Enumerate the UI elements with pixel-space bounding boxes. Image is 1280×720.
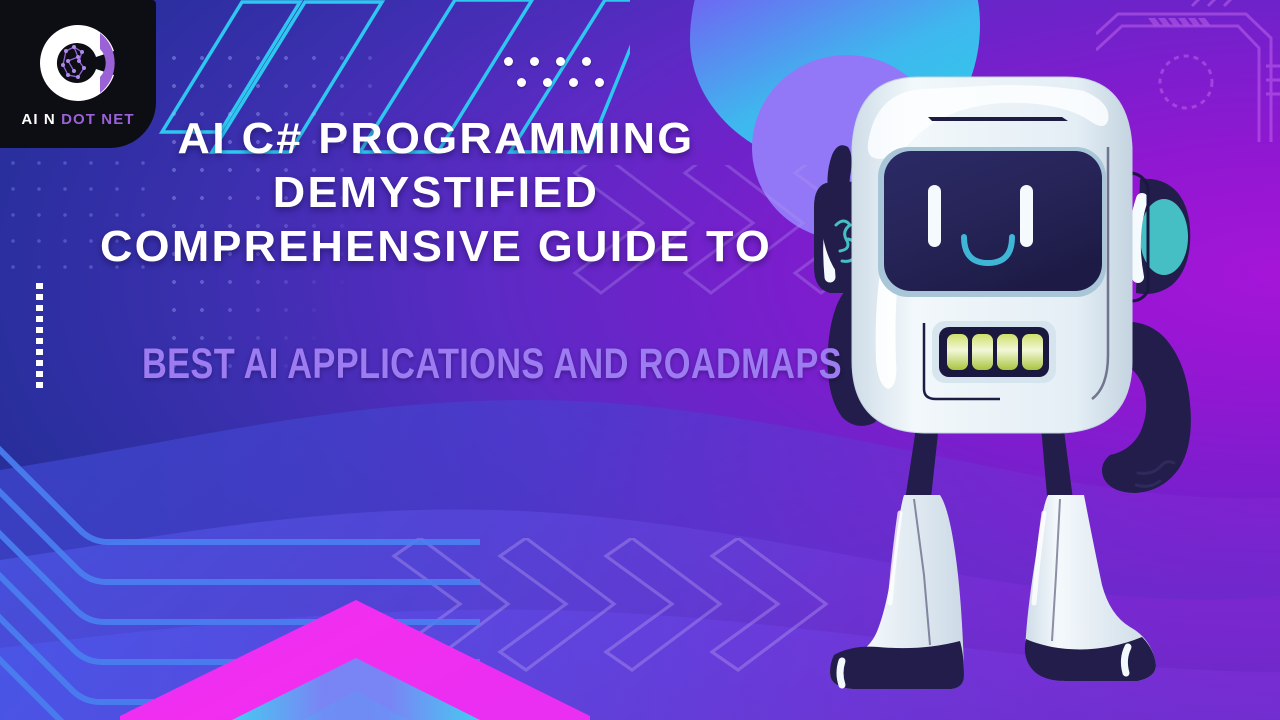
robot-foot-left — [830, 495, 964, 689]
c-letter-ai-head-logo-icon — [32, 21, 124, 107]
dashed-vertical-line — [36, 283, 43, 393]
page-title: AI C# PROGRAMMING DEMYSTIFIED COMPREHENS… — [59, 112, 814, 274]
gradient-arrow-shape — [120, 598, 590, 720]
hero-banner: AI N DOT NET AI C# PROGRAMMING DEMYSTIFI… — [0, 0, 1280, 720]
title-line-1: AI C# PROGRAMMING — [59, 112, 814, 166]
robot-face-screen — [878, 147, 1106, 297]
robot-eye-left — [928, 185, 941, 247]
robot-mascot — [812, 55, 1232, 695]
logo-text-ain: AI N — [21, 111, 55, 128]
robot-eye-right — [1020, 185, 1033, 247]
page-subtitle: BEST AI APPLICATIONS AND ROADMAPS — [142, 340, 750, 389]
robot-ear-right — [1132, 173, 1190, 301]
white-dot-rows — [504, 57, 624, 97]
title-line-2: DEMYSTIFIED — [59, 166, 814, 220]
title-line-3: COMPREHENSIVE GUIDE TO — [59, 220, 814, 274]
robot-foot-right — [1025, 495, 1156, 681]
